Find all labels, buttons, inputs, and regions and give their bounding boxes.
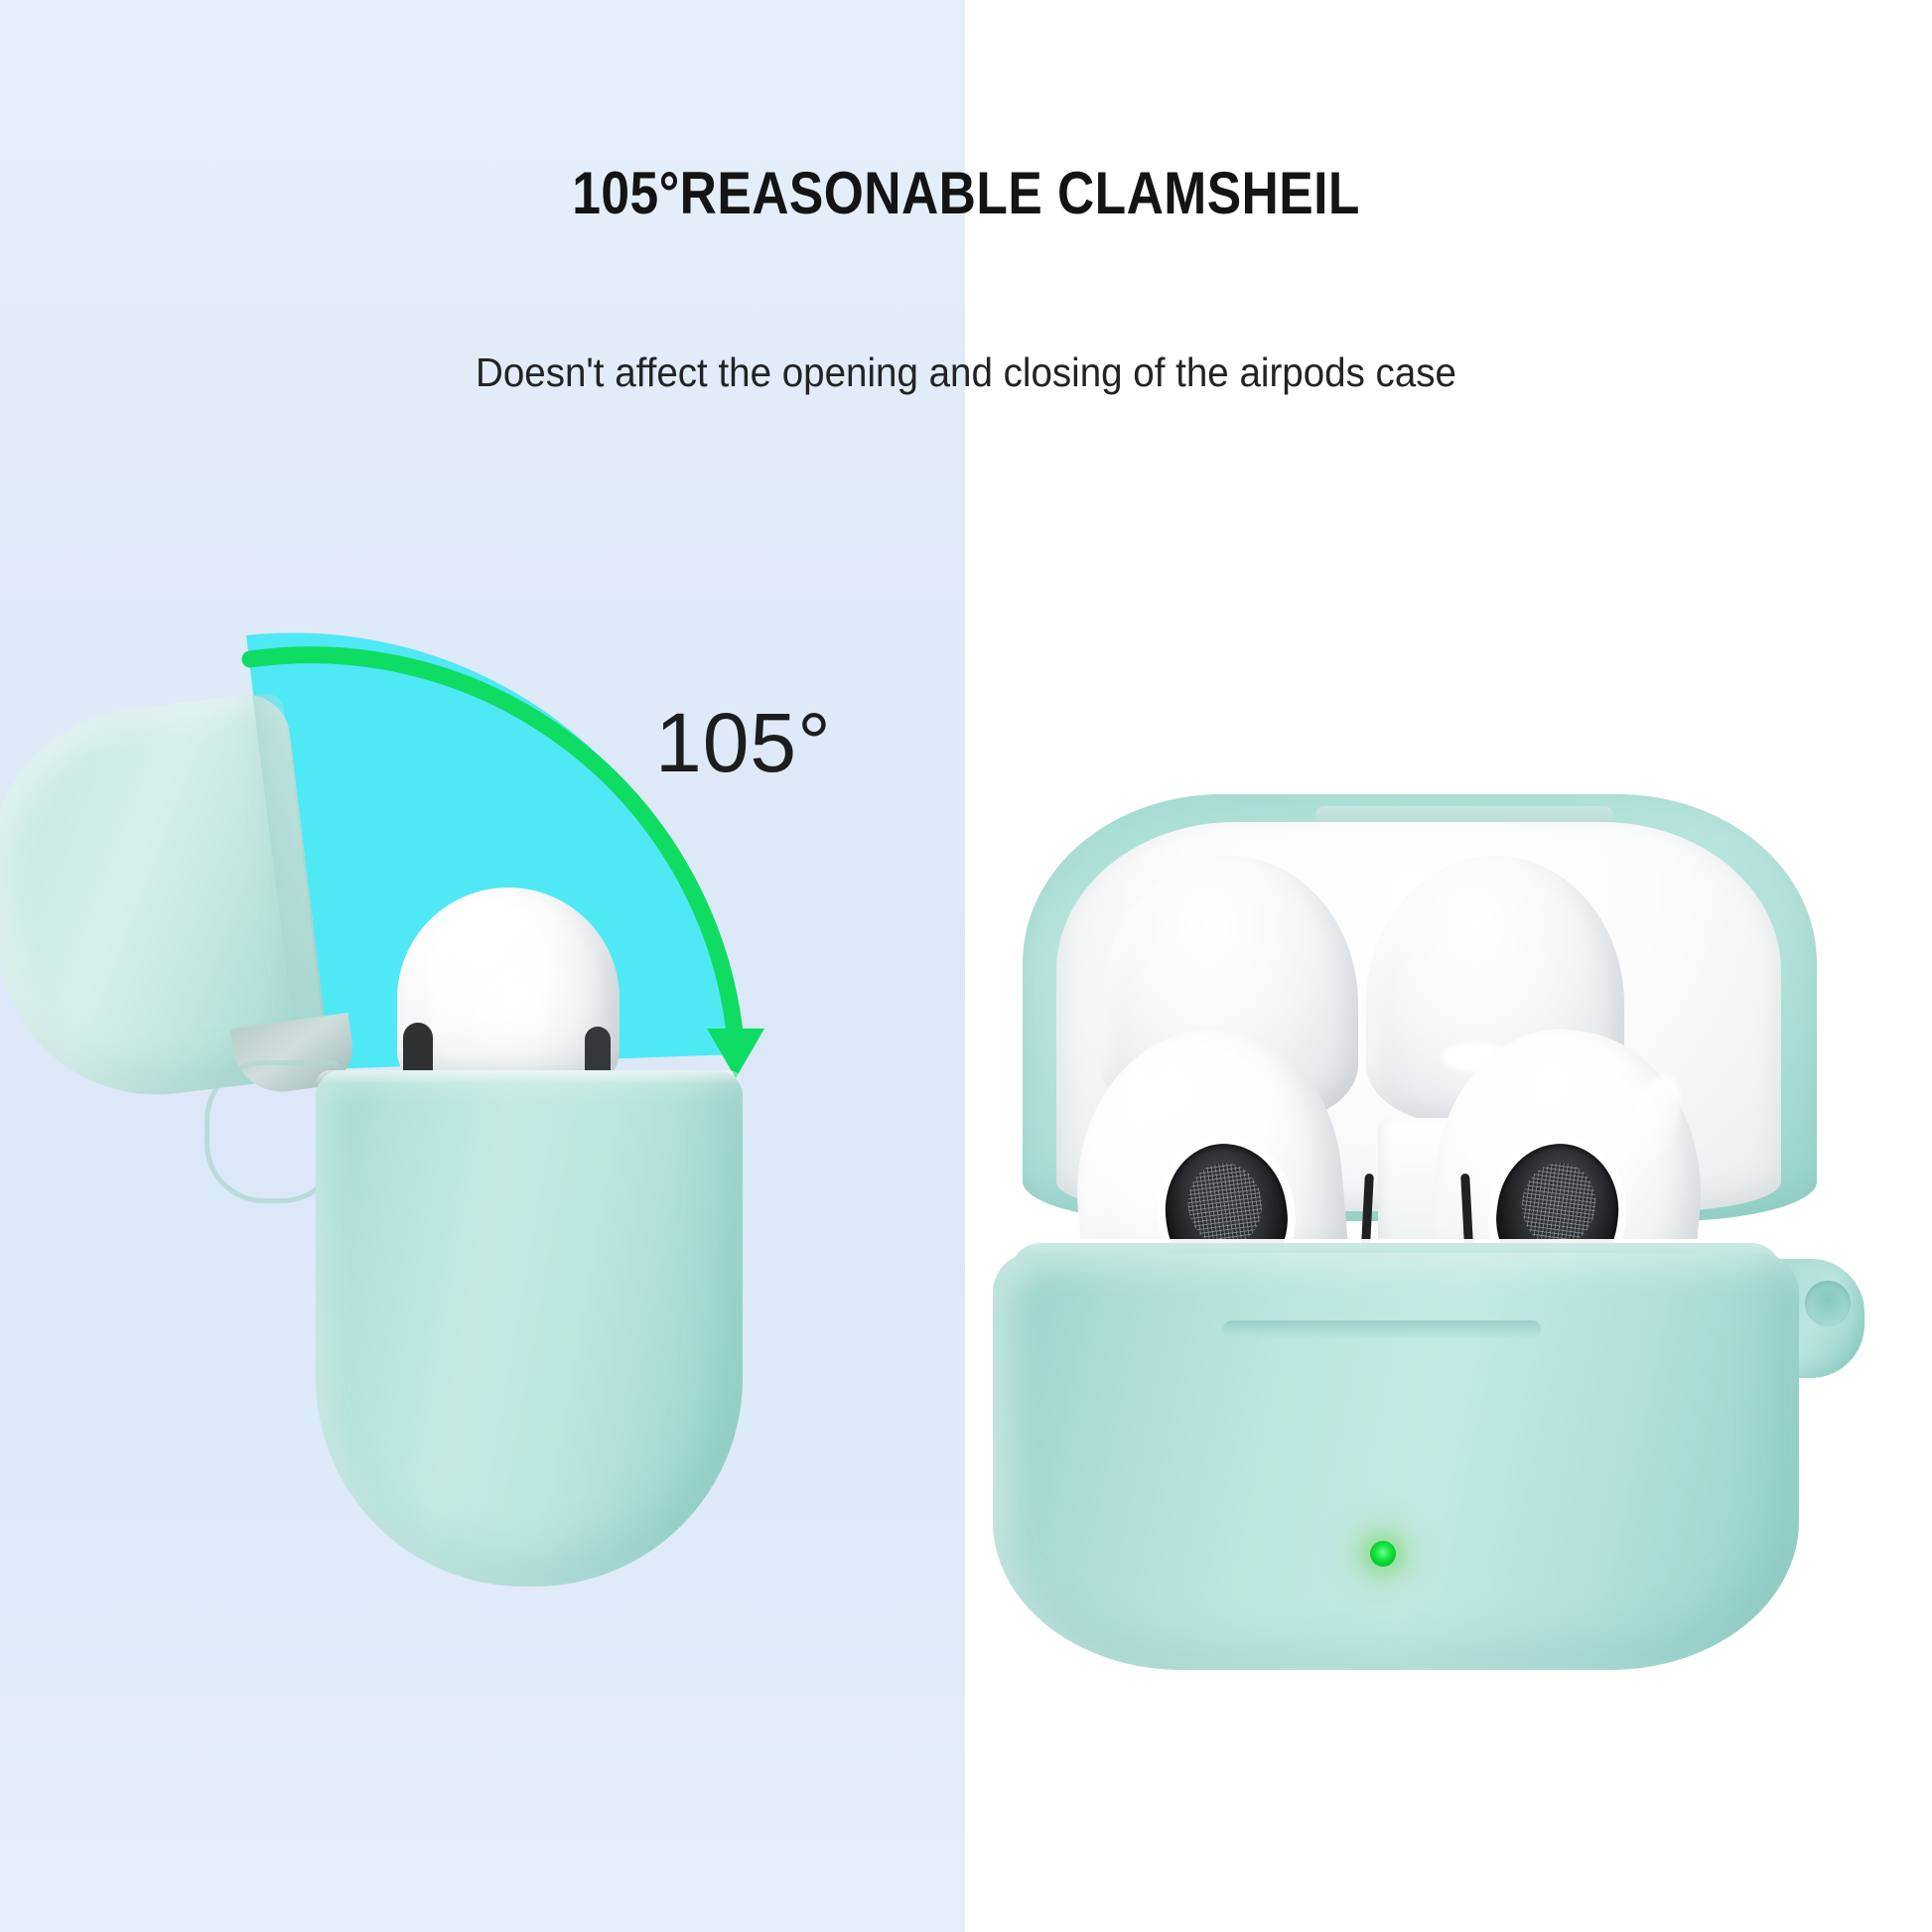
- product-infographic: 105°REASONABLE CLAMSHEIL Doesn't affect …: [0, 0, 1932, 1932]
- right-keychain-hole: [1805, 1281, 1851, 1326]
- right-case-ridge: [1223, 1320, 1541, 1337]
- right-product-case: [993, 794, 1863, 1596]
- left-earbud-sheen: [467, 953, 596, 1082]
- grille-mesh-right: [1517, 1158, 1601, 1250]
- page-subtitle: Doesn't affect the opening and closing o…: [58, 349, 1873, 396]
- right-case-body: [993, 1253, 1799, 1670]
- left-case-body: [316, 1070, 743, 1587]
- grille-mesh-left: [1182, 1158, 1267, 1250]
- left-earbud-grille-b-icon: [585, 1027, 611, 1074]
- angle-value-label: 105°: [655, 695, 832, 791]
- left-earbud-grille-a-icon: [403, 1023, 433, 1074]
- status-led-indicator: [1370, 1541, 1396, 1567]
- page-title: 105°REASONABLE CLAMSHEIL: [135, 159, 1797, 227]
